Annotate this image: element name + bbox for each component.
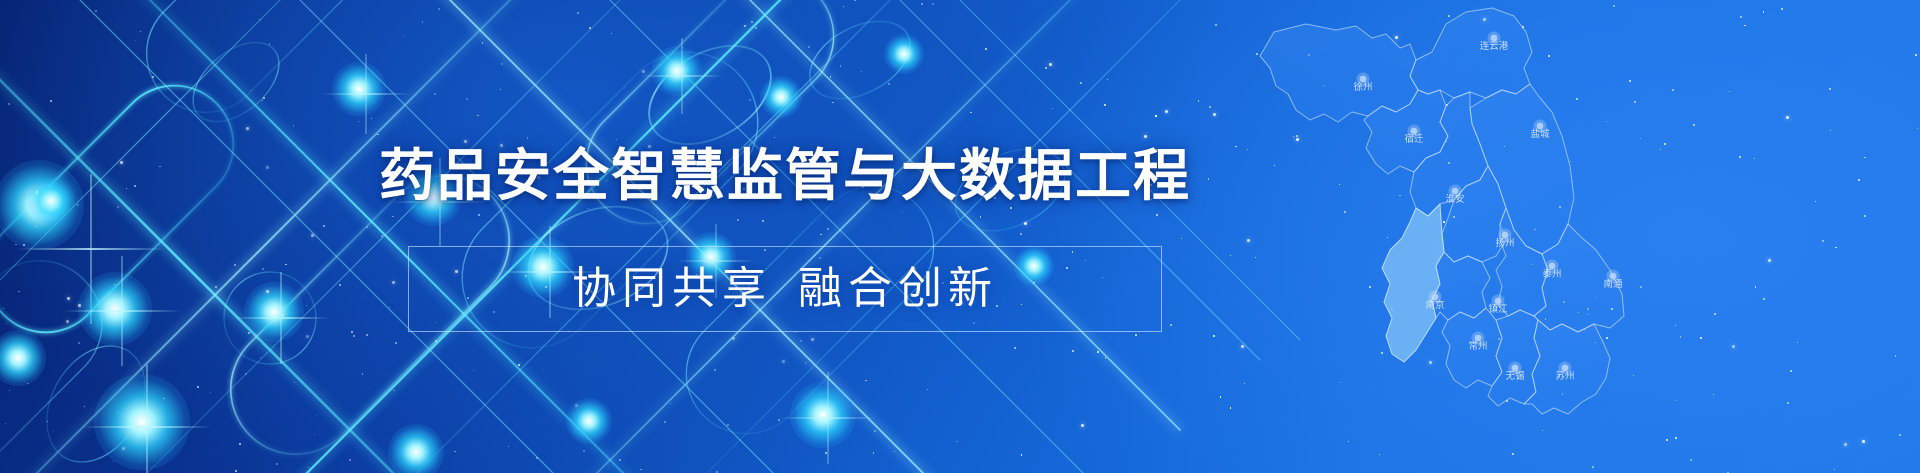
star-particle — [1899, 434, 1901, 436]
star-particle — [1739, 156, 1741, 158]
subtitle-frame: 协同共享融合创新 — [408, 246, 1162, 332]
star-particle — [1768, 259, 1771, 262]
star-particle — [1895, 355, 1896, 356]
star-particle — [1829, 88, 1831, 90]
star-particle — [1714, 313, 1716, 315]
star-particle — [1755, 286, 1756, 287]
star-particle — [1732, 345, 1735, 348]
star-particle — [1754, 158, 1755, 159]
star-particle — [1864, 157, 1865, 158]
star-particle — [1740, 16, 1742, 18]
star-particle — [1675, 325, 1676, 326]
star-particle — [1787, 402, 1789, 404]
star-particle — [1786, 116, 1789, 119]
star-particle — [1675, 400, 1676, 401]
star-particle — [1858, 179, 1860, 181]
star-particle — [1672, 89, 1674, 91]
subtitle-part-two: 融合创新 — [798, 264, 998, 313]
star-particle — [1917, 128, 1918, 129]
star-particle — [1790, 370, 1792, 372]
star-particle — [1915, 54, 1917, 56]
star-particle — [1830, 130, 1831, 131]
star-particle — [1729, 91, 1730, 92]
star-particle — [1666, 439, 1668, 441]
page-title: 药品安全智慧监管与大数据工程 — [379, 147, 1191, 206]
star-particle — [1700, 337, 1702, 339]
star-particle — [1763, 11, 1764, 12]
star-particle — [1690, 459, 1692, 461]
star-particle — [1781, 8, 1783, 10]
star-particle — [1713, 394, 1714, 395]
city-label: 南通 — [1603, 278, 1623, 290]
star-particle — [1680, 336, 1681, 337]
promo-banner: 徐州连云港宿迁盐城淮安扬州泰州南京镇江南通常州无锡苏州 药品安全智慧监管与大数据… — [0, 0, 1920, 473]
star-particle — [1822, 240, 1824, 242]
star-particle — [1835, 247, 1836, 248]
star-particle — [1763, 298, 1765, 300]
star-particle — [1844, 443, 1847, 446]
banner-text-block: 药品安全智慧监管与大数据工程 协同共享融合创新 — [0, 0, 1570, 473]
star-particle — [1834, 469, 1835, 470]
banner-subtitle: 协同共享融合创新 — [572, 267, 998, 311]
star-particle — [1660, 149, 1661, 150]
star-particle — [1675, 437, 1677, 439]
star-particle — [1744, 25, 1745, 26]
star-particle — [1693, 124, 1695, 126]
star-particle — [1864, 215, 1866, 217]
star-particle — [1664, 143, 1666, 145]
subtitle-part-one: 协同共享 — [572, 264, 772, 313]
star-particle — [1862, 440, 1865, 443]
star-particle — [1797, 342, 1798, 343]
star-particle — [1815, 201, 1816, 202]
